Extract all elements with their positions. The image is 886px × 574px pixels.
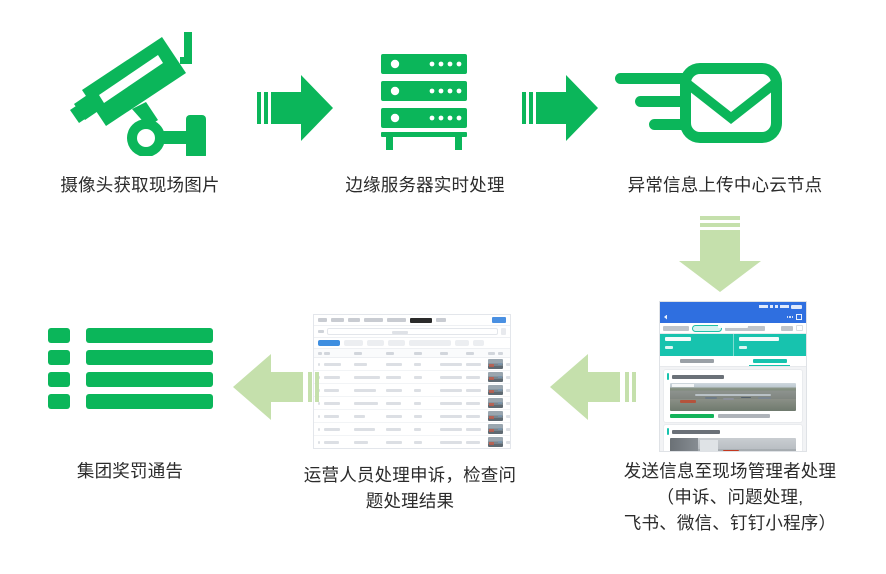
step-5-desktop-screenshot[interactable]: [313, 314, 511, 449]
step-3-caption: 异常信息上传中心云节点: [580, 172, 870, 198]
event-timestamp-label: [718, 414, 770, 418]
status-wifi-icon: [770, 305, 773, 308]
status-dot-icon: [775, 305, 778, 308]
envelope-send-icon: [615, 55, 785, 151]
status-time-label: [780, 305, 789, 308]
kpi-card[interactable]: [733, 334, 807, 356]
status-signal-icon: [759, 305, 768, 308]
table-row[interactable]: [314, 358, 510, 371]
step-4-caption: 发送信息至现场管理者处理 （申诉、问题处理, 飞书、微信、钉钉小程序）: [585, 458, 875, 536]
search-label: [318, 330, 324, 333]
table-row[interactable]: [314, 397, 510, 410]
card-header: [667, 428, 799, 435]
filter-tab[interactable]: [473, 340, 484, 346]
step-1-caption: 摄像头获取现场图片: [20, 172, 260, 198]
list-item[interactable]: [664, 370, 802, 422]
status-battery-icon: [791, 305, 802, 309]
arrow-left-icon: [231, 352, 321, 422]
filter-tab[interactable]: [455, 340, 469, 346]
cctv-camera-icon: [66, 26, 211, 156]
card-title: [672, 375, 724, 379]
primary-action-button[interactable]: [492, 317, 506, 323]
server-rack-icon: [375, 52, 473, 152]
filter-tab[interactable]: [367, 340, 384, 346]
sub-tab-active[interactable]: [733, 356, 806, 366]
card-title: [672, 430, 720, 434]
mobile-kpi-row: [660, 334, 806, 356]
table-row[interactable]: [314, 371, 510, 384]
filter-date-label[interactable]: [781, 326, 793, 331]
step-6-caption: 集团奖罚通告: [10, 458, 250, 484]
accent-bar: [667, 373, 669, 380]
step-1-camera: [66, 26, 211, 156]
mobile-page-title: [660, 315, 806, 319]
diagram-canvas: 摄像头获取现场图片: [0, 0, 886, 574]
filter-tab[interactable]: [344, 340, 363, 346]
connector-arrow-4: [548, 352, 638, 422]
nav-item[interactable]: [348, 318, 360, 322]
connector-arrow-2: [520, 72, 600, 144]
step-4-mobile-screenshot[interactable]: [659, 301, 807, 452]
filter-chip[interactable]: [663, 326, 689, 331]
nav-item[interactable]: [318, 318, 327, 322]
list-item[interactable]: [664, 425, 802, 452]
nav-item[interactable]: [364, 318, 383, 322]
table-row[interactable]: [314, 384, 510, 397]
table-header-row: [314, 349, 510, 358]
step-3-envelope: [615, 55, 785, 151]
card-header: [667, 373, 799, 380]
filter-settings-icon[interactable]: [796, 325, 803, 331]
nav-item[interactable]: [387, 318, 406, 322]
sub-tab[interactable]: [660, 356, 733, 366]
filter-tab[interactable]: [409, 340, 451, 346]
filter-tab[interactable]: [388, 340, 405, 346]
arrow-right-icon: [255, 72, 335, 144]
mobile-status-bar: [660, 302, 806, 311]
mobile-title-bar: [660, 311, 806, 323]
table-row[interactable]: [314, 423, 510, 436]
table-body: [314, 358, 510, 449]
table-row[interactable]: [314, 436, 510, 449]
admin-filter-tabs[interactable]: [314, 338, 510, 349]
bulleted-list-icon: [48, 328, 213, 426]
nav-item[interactable]: [331, 318, 344, 322]
arrow-down-icon: [672, 214, 768, 294]
search-submit-button[interactable]: [501, 328, 506, 335]
kpi-card[interactable]: [660, 334, 733, 356]
camera-photo-warehouse[interactable]: [670, 438, 796, 452]
accent-bar: [667, 428, 669, 435]
connector-arrow-5: [231, 352, 321, 422]
arrow-left-icon: [548, 352, 638, 422]
table-row[interactable]: [314, 410, 510, 423]
step-5-caption: 运营人员处理申诉，检查问 题处理结果: [265, 462, 555, 514]
photo-timestamp-overlay: [672, 384, 694, 387]
step-6-list: [48, 328, 213, 426]
search-input[interactable]: [327, 328, 498, 335]
nav-item-active[interactable]: [410, 318, 432, 323]
step-2-server: [375, 52, 473, 152]
arrow-right-icon: [520, 72, 600, 144]
card-footer: [670, 414, 796, 418]
mobile-sub-tabs[interactable]: [660, 356, 806, 367]
admin-top-nav[interactable]: [314, 315, 510, 326]
connector-arrow-3: [672, 214, 768, 294]
nav-item[interactable]: [436, 318, 446, 322]
connector-arrow-1: [255, 72, 335, 144]
camera-ip-label: [670, 414, 714, 418]
step-2-caption: 边缘服务器实时处理: [305, 172, 545, 198]
camera-photo-yard[interactable]: [670, 383, 796, 411]
filter-tab-active[interactable]: [318, 340, 340, 346]
admin-search-bar[interactable]: [314, 326, 510, 338]
